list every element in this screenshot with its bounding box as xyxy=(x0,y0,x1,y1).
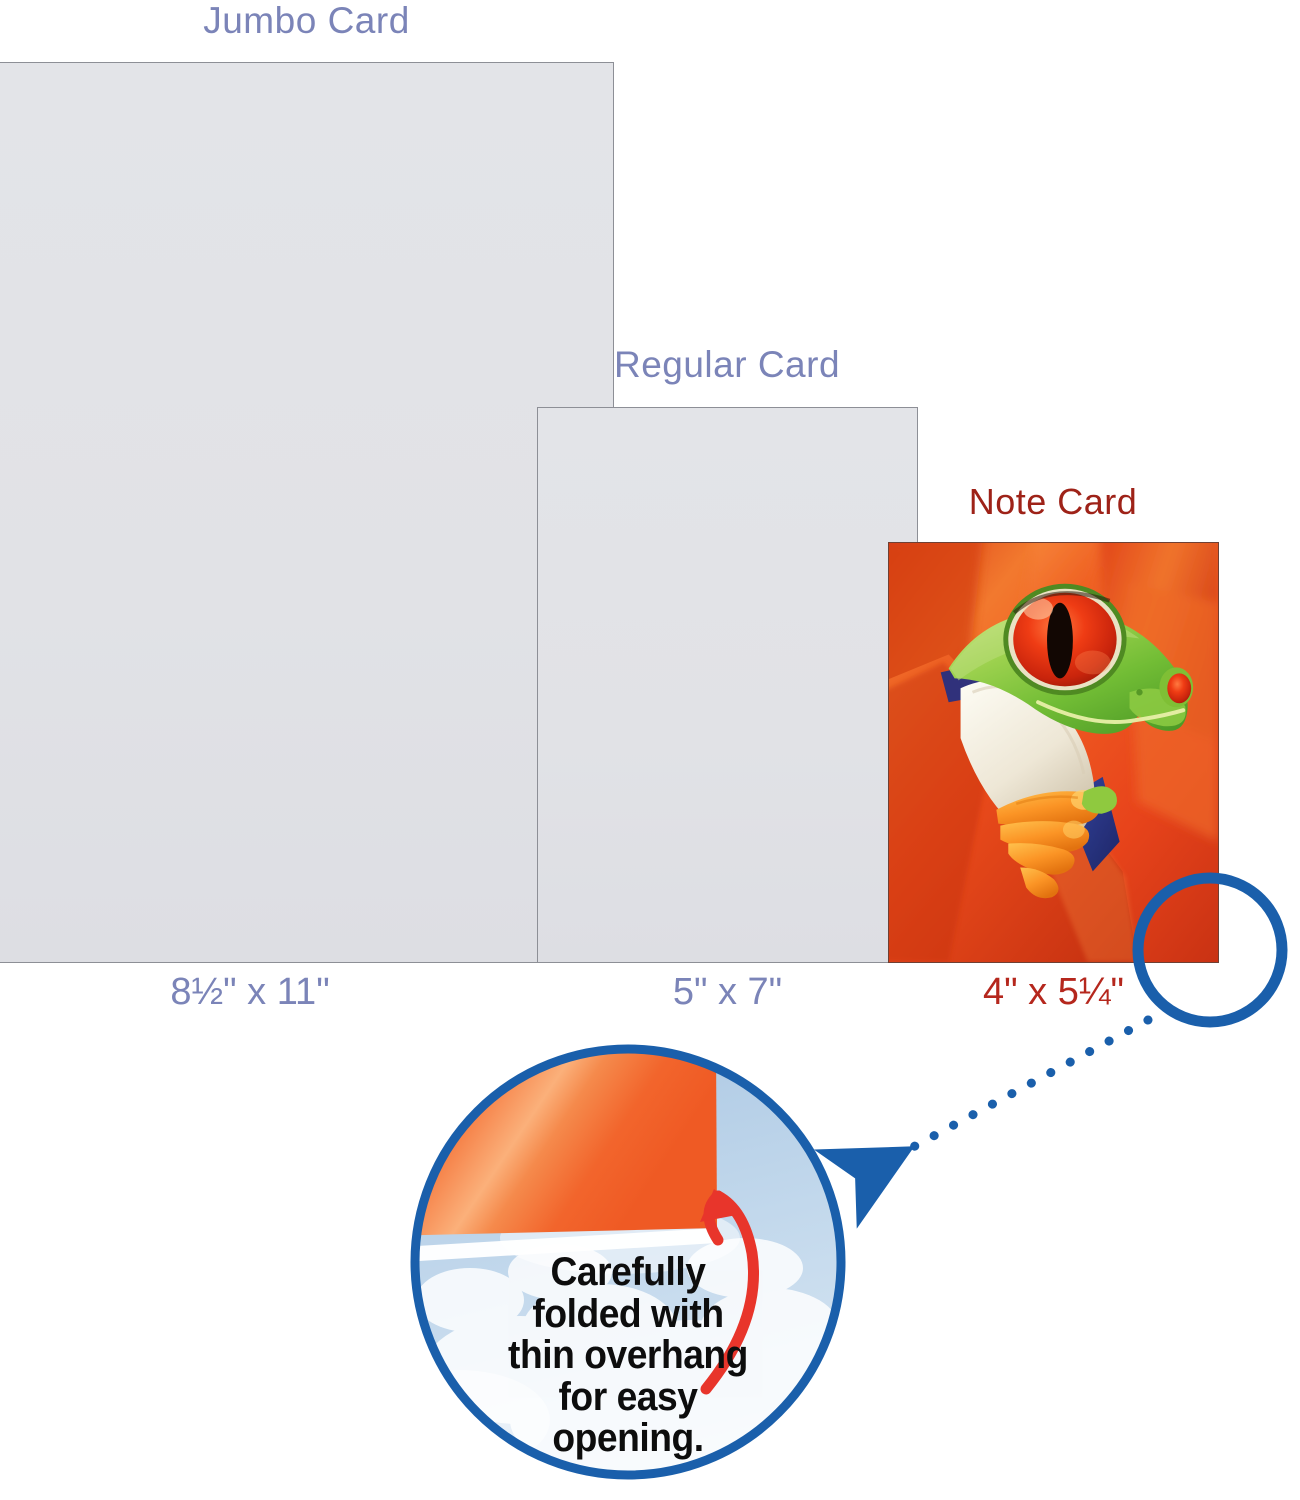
regular-card-title: Regular Card xyxy=(537,346,917,383)
magnifier-caption: Carefully folded with thin overhang for … xyxy=(446,1252,811,1460)
folded-card-face xyxy=(385,1043,717,1236)
arrow-head-shape xyxy=(700,1189,742,1222)
regular-card-shape xyxy=(537,407,918,963)
jumbo-card-dimensions: 8½" x 11" xyxy=(0,973,500,1011)
diagram-canvas: Jumbo Card 8½" x 11" Regular Card 5" x 7… xyxy=(0,0,1300,1500)
frog-photo xyxy=(889,543,1218,962)
regular-card-dimensions: 5" x 7" xyxy=(537,973,918,1011)
note-card-title: Note Card xyxy=(888,484,1218,520)
caption-line-5: opening. xyxy=(446,1418,811,1460)
caption-line-4: for easy xyxy=(446,1377,811,1419)
jumbo-card-title: Jumbo Card xyxy=(0,2,613,39)
note-card-shape xyxy=(888,542,1219,963)
jumbo-card-shape xyxy=(0,62,614,963)
note-card-dimensions: 4" x 5¼" xyxy=(888,973,1219,1011)
caption-line-1: Carefully xyxy=(446,1252,811,1294)
callout-connector xyxy=(867,1020,1148,1172)
caption-line-3: thin overhang xyxy=(446,1335,811,1377)
caption-line-2: folded with xyxy=(446,1294,811,1336)
